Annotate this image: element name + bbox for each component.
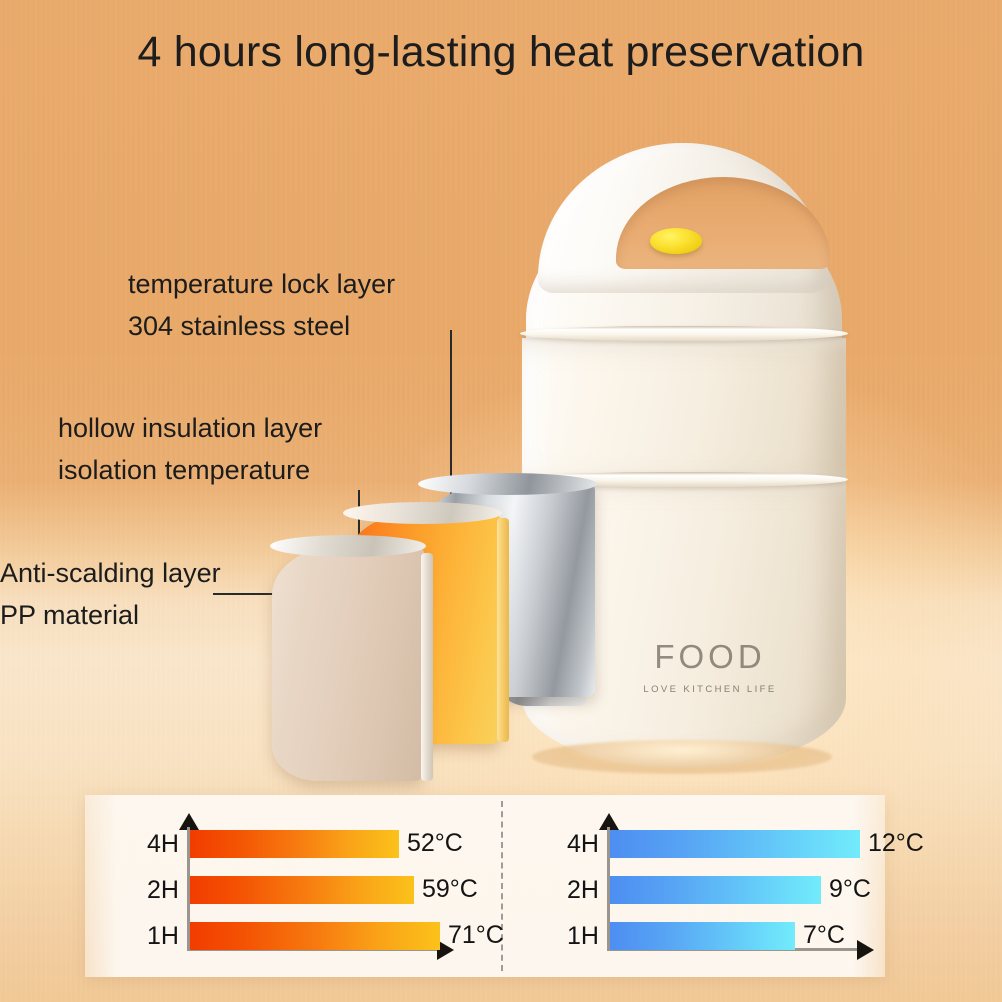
product-seam-upper — [520, 326, 848, 341]
bar-category-label: 1H — [541, 922, 599, 951]
bar-category-label: 4H — [541, 830, 599, 859]
steel-rim — [418, 473, 597, 495]
bar-category-label: 2H — [121, 876, 179, 905]
bar — [610, 876, 821, 904]
page-title: 4 hours long-lasting heat preservation — [0, 28, 1002, 77]
bar-value-label: 59°C — [422, 875, 478, 904]
bar — [610, 922, 795, 950]
product-infographic: 4 hours long-lasting heat preservation t… — [0, 0, 1002, 1002]
bar-value-label: 52°C — [407, 829, 463, 858]
chart-bar-row: 4H52°C — [103, 829, 493, 859]
product-handle — [538, 143, 828, 293]
bar — [190, 830, 399, 858]
chart-bar-row: 4H12°C — [523, 829, 913, 859]
bar-value-label: 7°C — [803, 921, 845, 950]
logo-tagline: LOVE KITCHEN LIFE — [610, 684, 810, 695]
annotation-line-1: temperature lock layer — [128, 264, 395, 306]
chart-bar-row: 2H9°C — [523, 875, 913, 905]
annotation-line-1: hollow insulation layer — [58, 408, 322, 450]
bar-value-label: 9°C — [829, 875, 871, 904]
temperature-chart-panel: 4H52°C2H59°C1H71°C 4H12°C2H9°C1H7°C — [85, 795, 885, 977]
bar-value-label: 71°C — [448, 921, 504, 950]
chart-bar-row: 2H59°C — [103, 875, 493, 905]
pp-face — [272, 545, 424, 781]
bar — [610, 830, 860, 858]
bar — [190, 922, 440, 950]
product-logo: FOOD LOVE KITCHEN LIFE — [610, 638, 810, 695]
annotation-line-2: isolation temperature — [58, 450, 322, 492]
chart-cold-retention: 4H12°C2H9°C1H7°C — [523, 813, 913, 963]
chart-bar-row: 1H71°C — [103, 921, 493, 951]
insulation-edge — [497, 518, 509, 742]
bar-category-label: 1H — [121, 922, 179, 951]
annotation-line-1: Anti-scalding layer — [0, 553, 221, 595]
annotation-hollow-insulation: hollow insulation layer isolation temper… — [58, 408, 322, 492]
bar-category-label: 4H — [121, 830, 179, 859]
pp-rim — [270, 535, 426, 557]
bar-value-label: 12°C — [868, 829, 924, 858]
annotation-anti-scalding: Anti-scalding layer PP material — [0, 553, 221, 637]
chart-bar-row: 1H7°C — [523, 921, 913, 951]
vent-button — [650, 228, 702, 254]
annotation-temperature-lock: temperature lock layer 304 stainless ste… — [128, 264, 395, 348]
product-base-highlight — [532, 740, 832, 774]
annotation-line-2: PP material — [0, 595, 221, 637]
product-body-middle — [522, 338, 846, 488]
insulation-rim — [343, 502, 502, 524]
handle-opening — [616, 177, 830, 269]
layer-panel-pp-material — [272, 545, 424, 781]
pp-edge — [421, 553, 433, 781]
annotation-line-2: 304 stainless steel — [128, 306, 395, 348]
chart-heat-retention: 4H52°C2H59°C1H71°C — [103, 813, 493, 963]
logo-wordmark: FOOD — [610, 638, 810, 676]
bar — [190, 876, 414, 904]
bar-category-label: 2H — [541, 876, 599, 905]
